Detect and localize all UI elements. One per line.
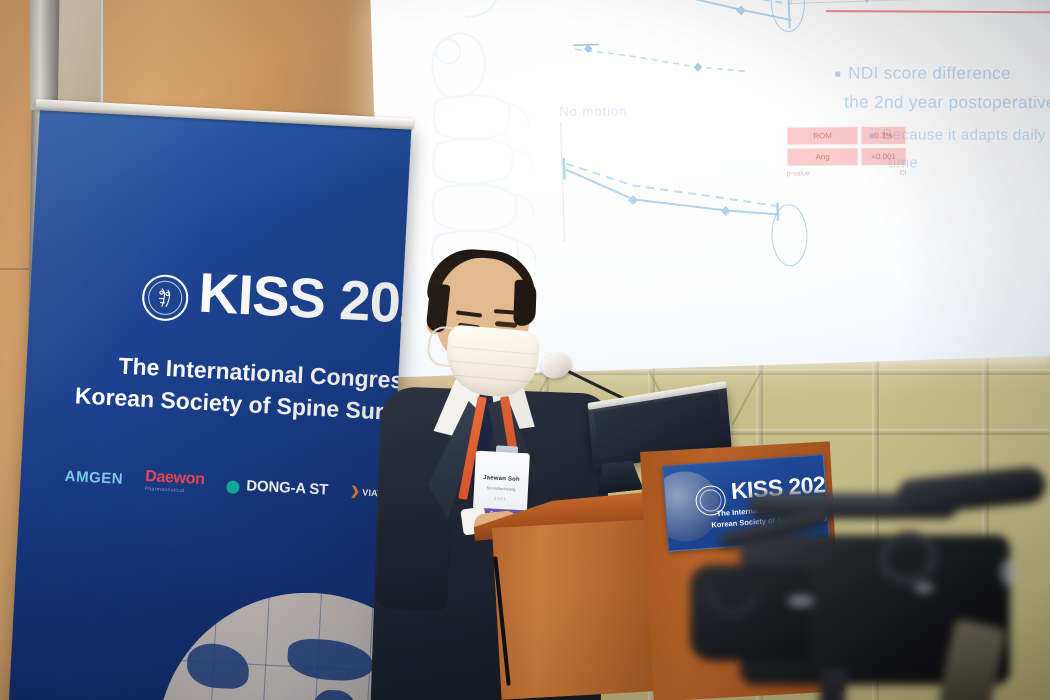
speaker-arm <box>375 418 457 612</box>
conference-photo-scene: Fusion op disappeared NDI score differen… <box>0 0 1050 700</box>
line-chart-middle <box>567 31 769 98</box>
slide-underline <box>826 10 1050 13</box>
video-camera <box>700 455 1050 700</box>
table-cell: ROM <box>787 126 859 145</box>
camera-shotgun-mic <box>895 465 1048 516</box>
badge-name-text: Jaewan Soh <box>474 475 528 484</box>
table-cell: 0.3% <box>860 126 906 145</box>
down-arrow-icon <box>850 0 883 4</box>
pillar-cap <box>30 0 52 110</box>
badge-code-text: 2021 <box>473 495 527 503</box>
slide-bullet: the 2nd year postoperative <box>844 93 1050 113</box>
conference-roll-up-banner: KISS 2021 The International Congress of … <box>9 108 412 700</box>
slide-bullet: NDI score difference <box>835 64 1011 84</box>
table-cell: Ang <box>787 147 859 166</box>
hair-side <box>513 280 537 327</box>
table-footer: p-value CI <box>787 170 907 178</box>
badge-role-text: Soonchunhyang <box>474 485 528 493</box>
slide-stats-table: ROM 0.3% Ang <0.001 p-value CI <box>787 126 907 169</box>
table-cell: <0.001 <box>861 147 907 166</box>
